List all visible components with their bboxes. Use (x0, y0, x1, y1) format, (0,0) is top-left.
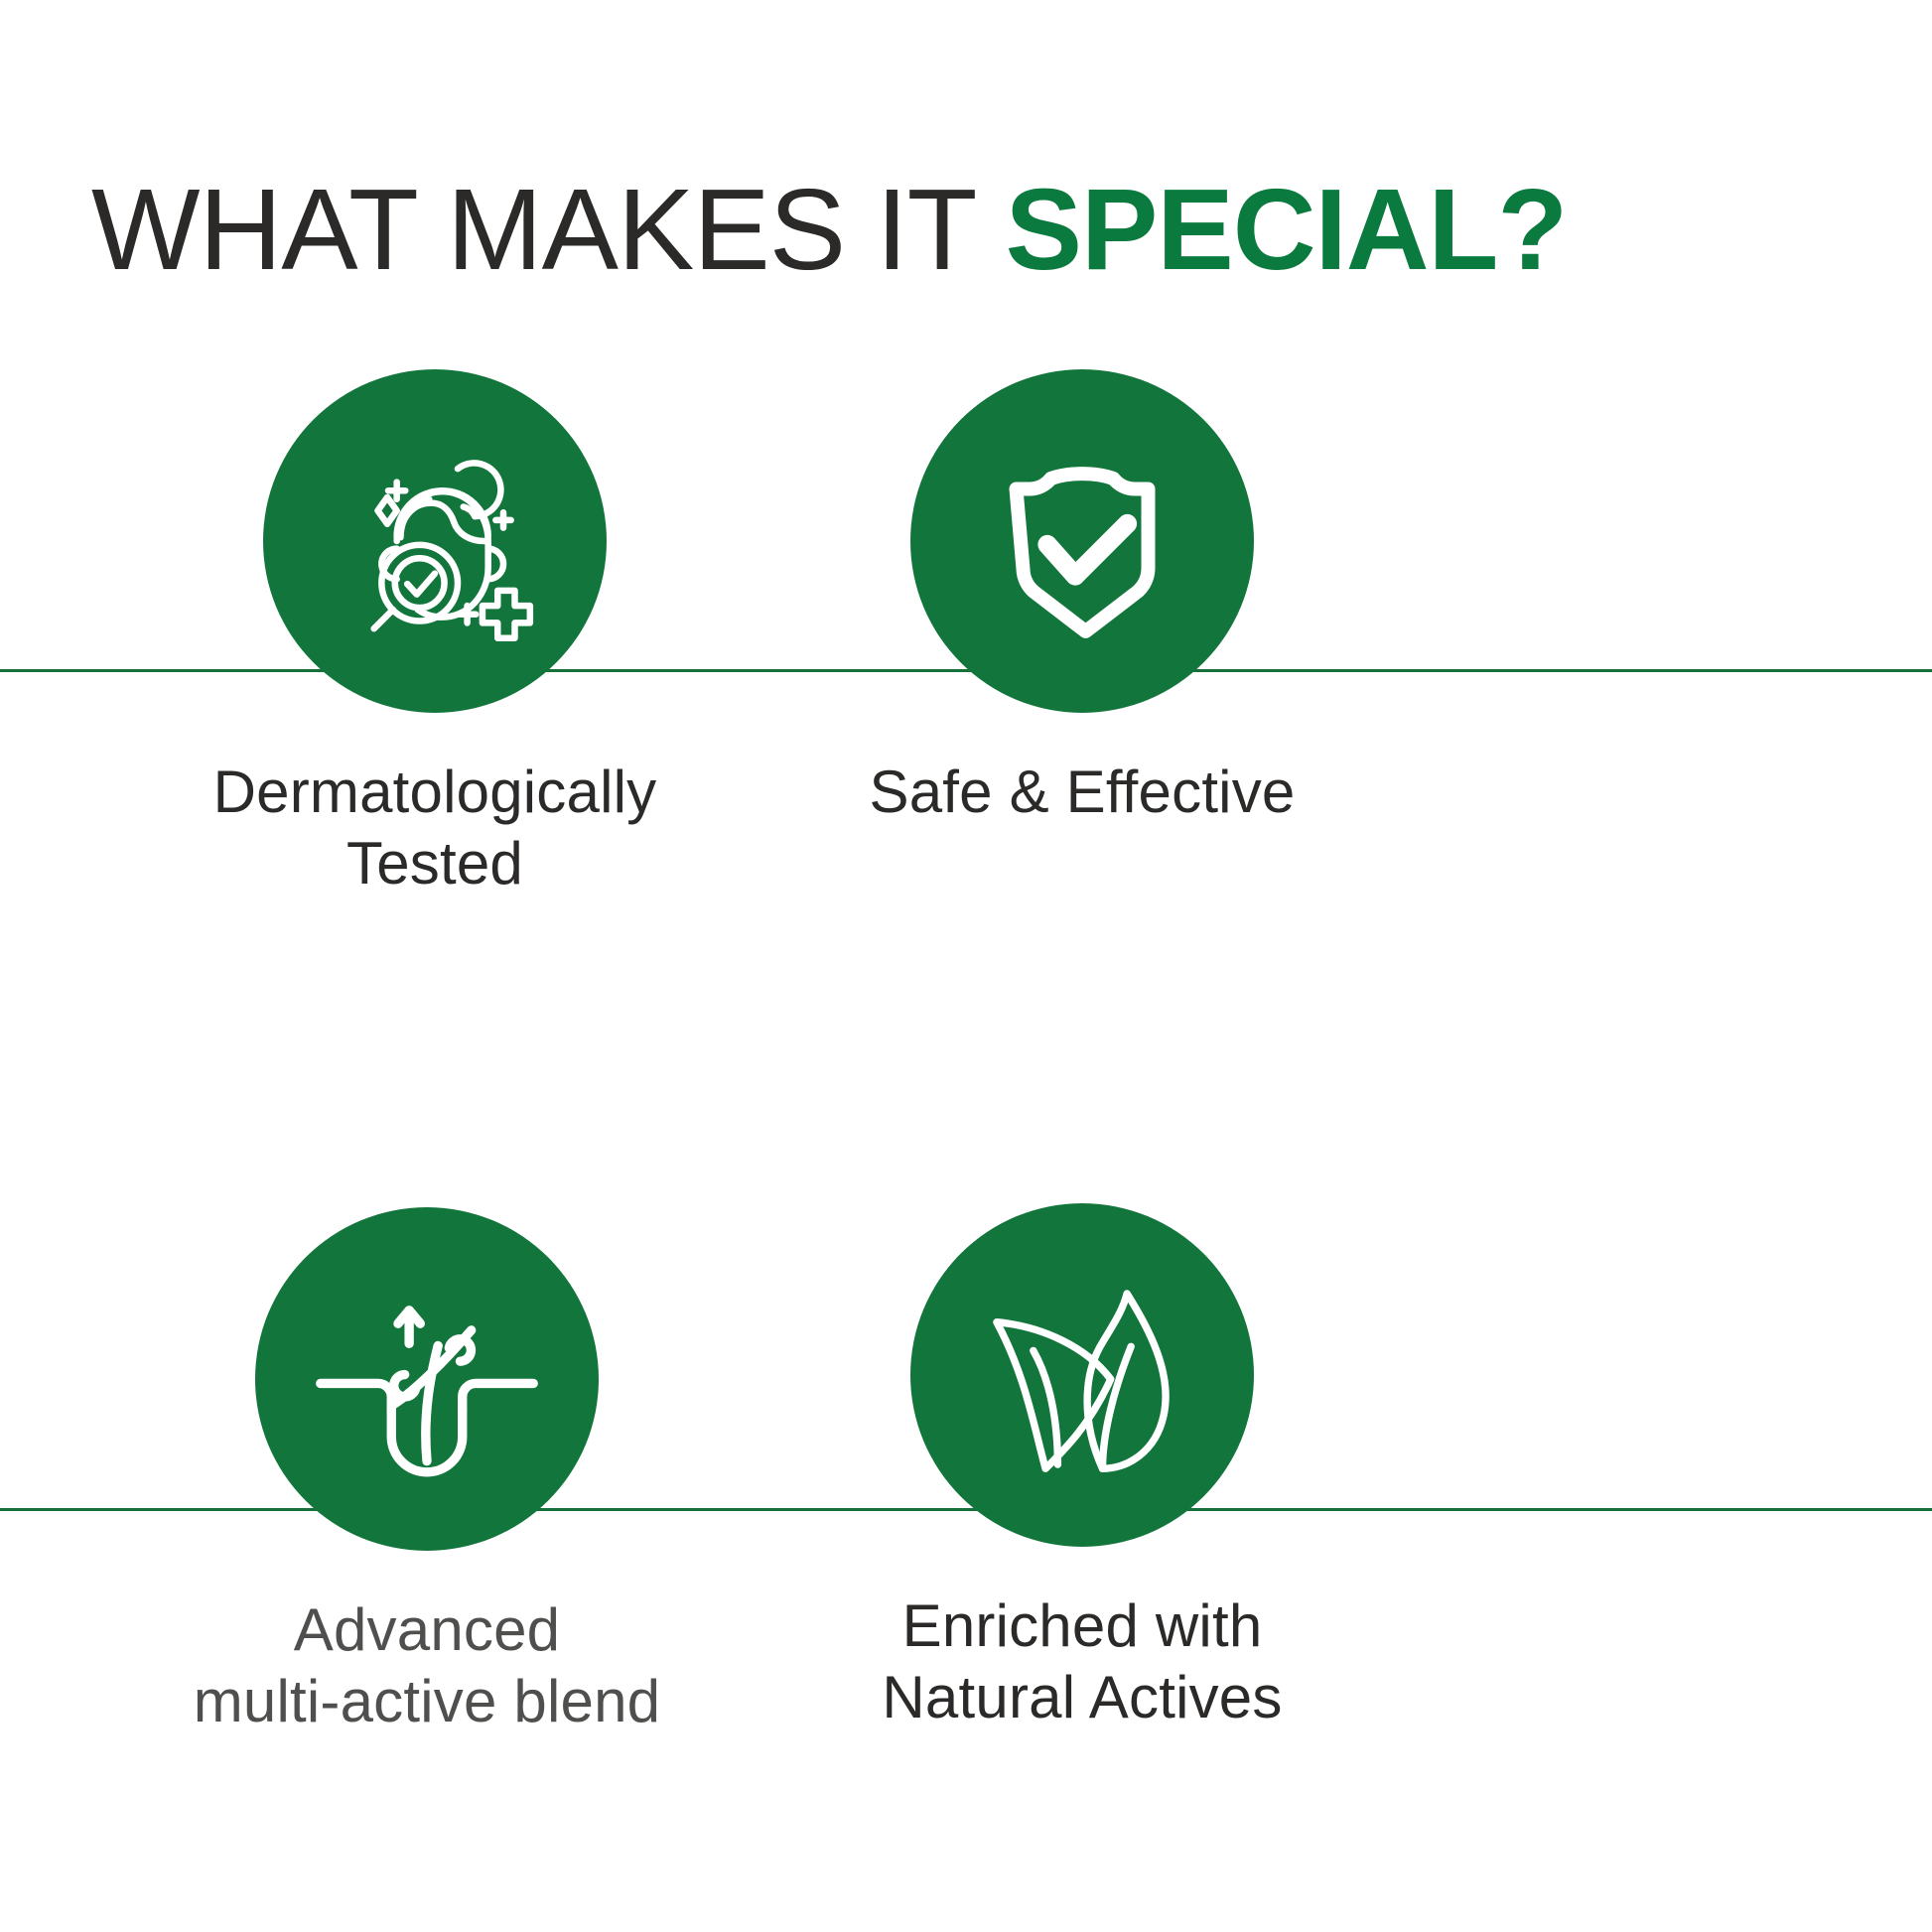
feature-safe-effective: Safe & Effective (735, 369, 1430, 828)
caption-line-2: Natural Actives (735, 1662, 1430, 1733)
page-title-emphasis: SPECIAL? (1006, 165, 1568, 294)
caption-line-1: Advanced (79, 1594, 774, 1666)
feature-icon-badge (255, 1207, 599, 1551)
caption-line-2: Tested (87, 828, 782, 899)
caption-line-1: Safe & Effective (735, 757, 1430, 828)
feature-icon-badge (263, 369, 607, 713)
face-magnifier-check-icon (321, 427, 549, 655)
feature-advanced-blend: Advanced multi-active blend (79, 1207, 774, 1737)
feature-caption: Enriched with Natural Actives (735, 1590, 1430, 1733)
feature-dermatologically-tested: Dermatologically Tested (87, 369, 782, 899)
caption-line-1: Enriched with (735, 1590, 1430, 1662)
caption-line-1: Dermatologically (87, 757, 782, 828)
page-title: WHAT MAKES IT SPECIAL? (91, 165, 1878, 294)
shield-check-icon (978, 437, 1186, 645)
caption-line-2: multi-active blend (79, 1666, 774, 1737)
feature-icon-badge (910, 1203, 1254, 1547)
feature-caption: Advanced multi-active blend (79, 1594, 774, 1737)
feature-caption: Dermatologically Tested (87, 757, 782, 899)
feature-caption: Safe & Effective (735, 757, 1430, 828)
feature-icon-badge (910, 369, 1254, 713)
leaves-icon (960, 1253, 1204, 1497)
hair-follicle-icon (294, 1246, 560, 1512)
feature-natural-actives: Enriched with Natural Actives (735, 1203, 1430, 1733)
page-title-prefix: WHAT MAKES IT (91, 165, 1006, 294)
